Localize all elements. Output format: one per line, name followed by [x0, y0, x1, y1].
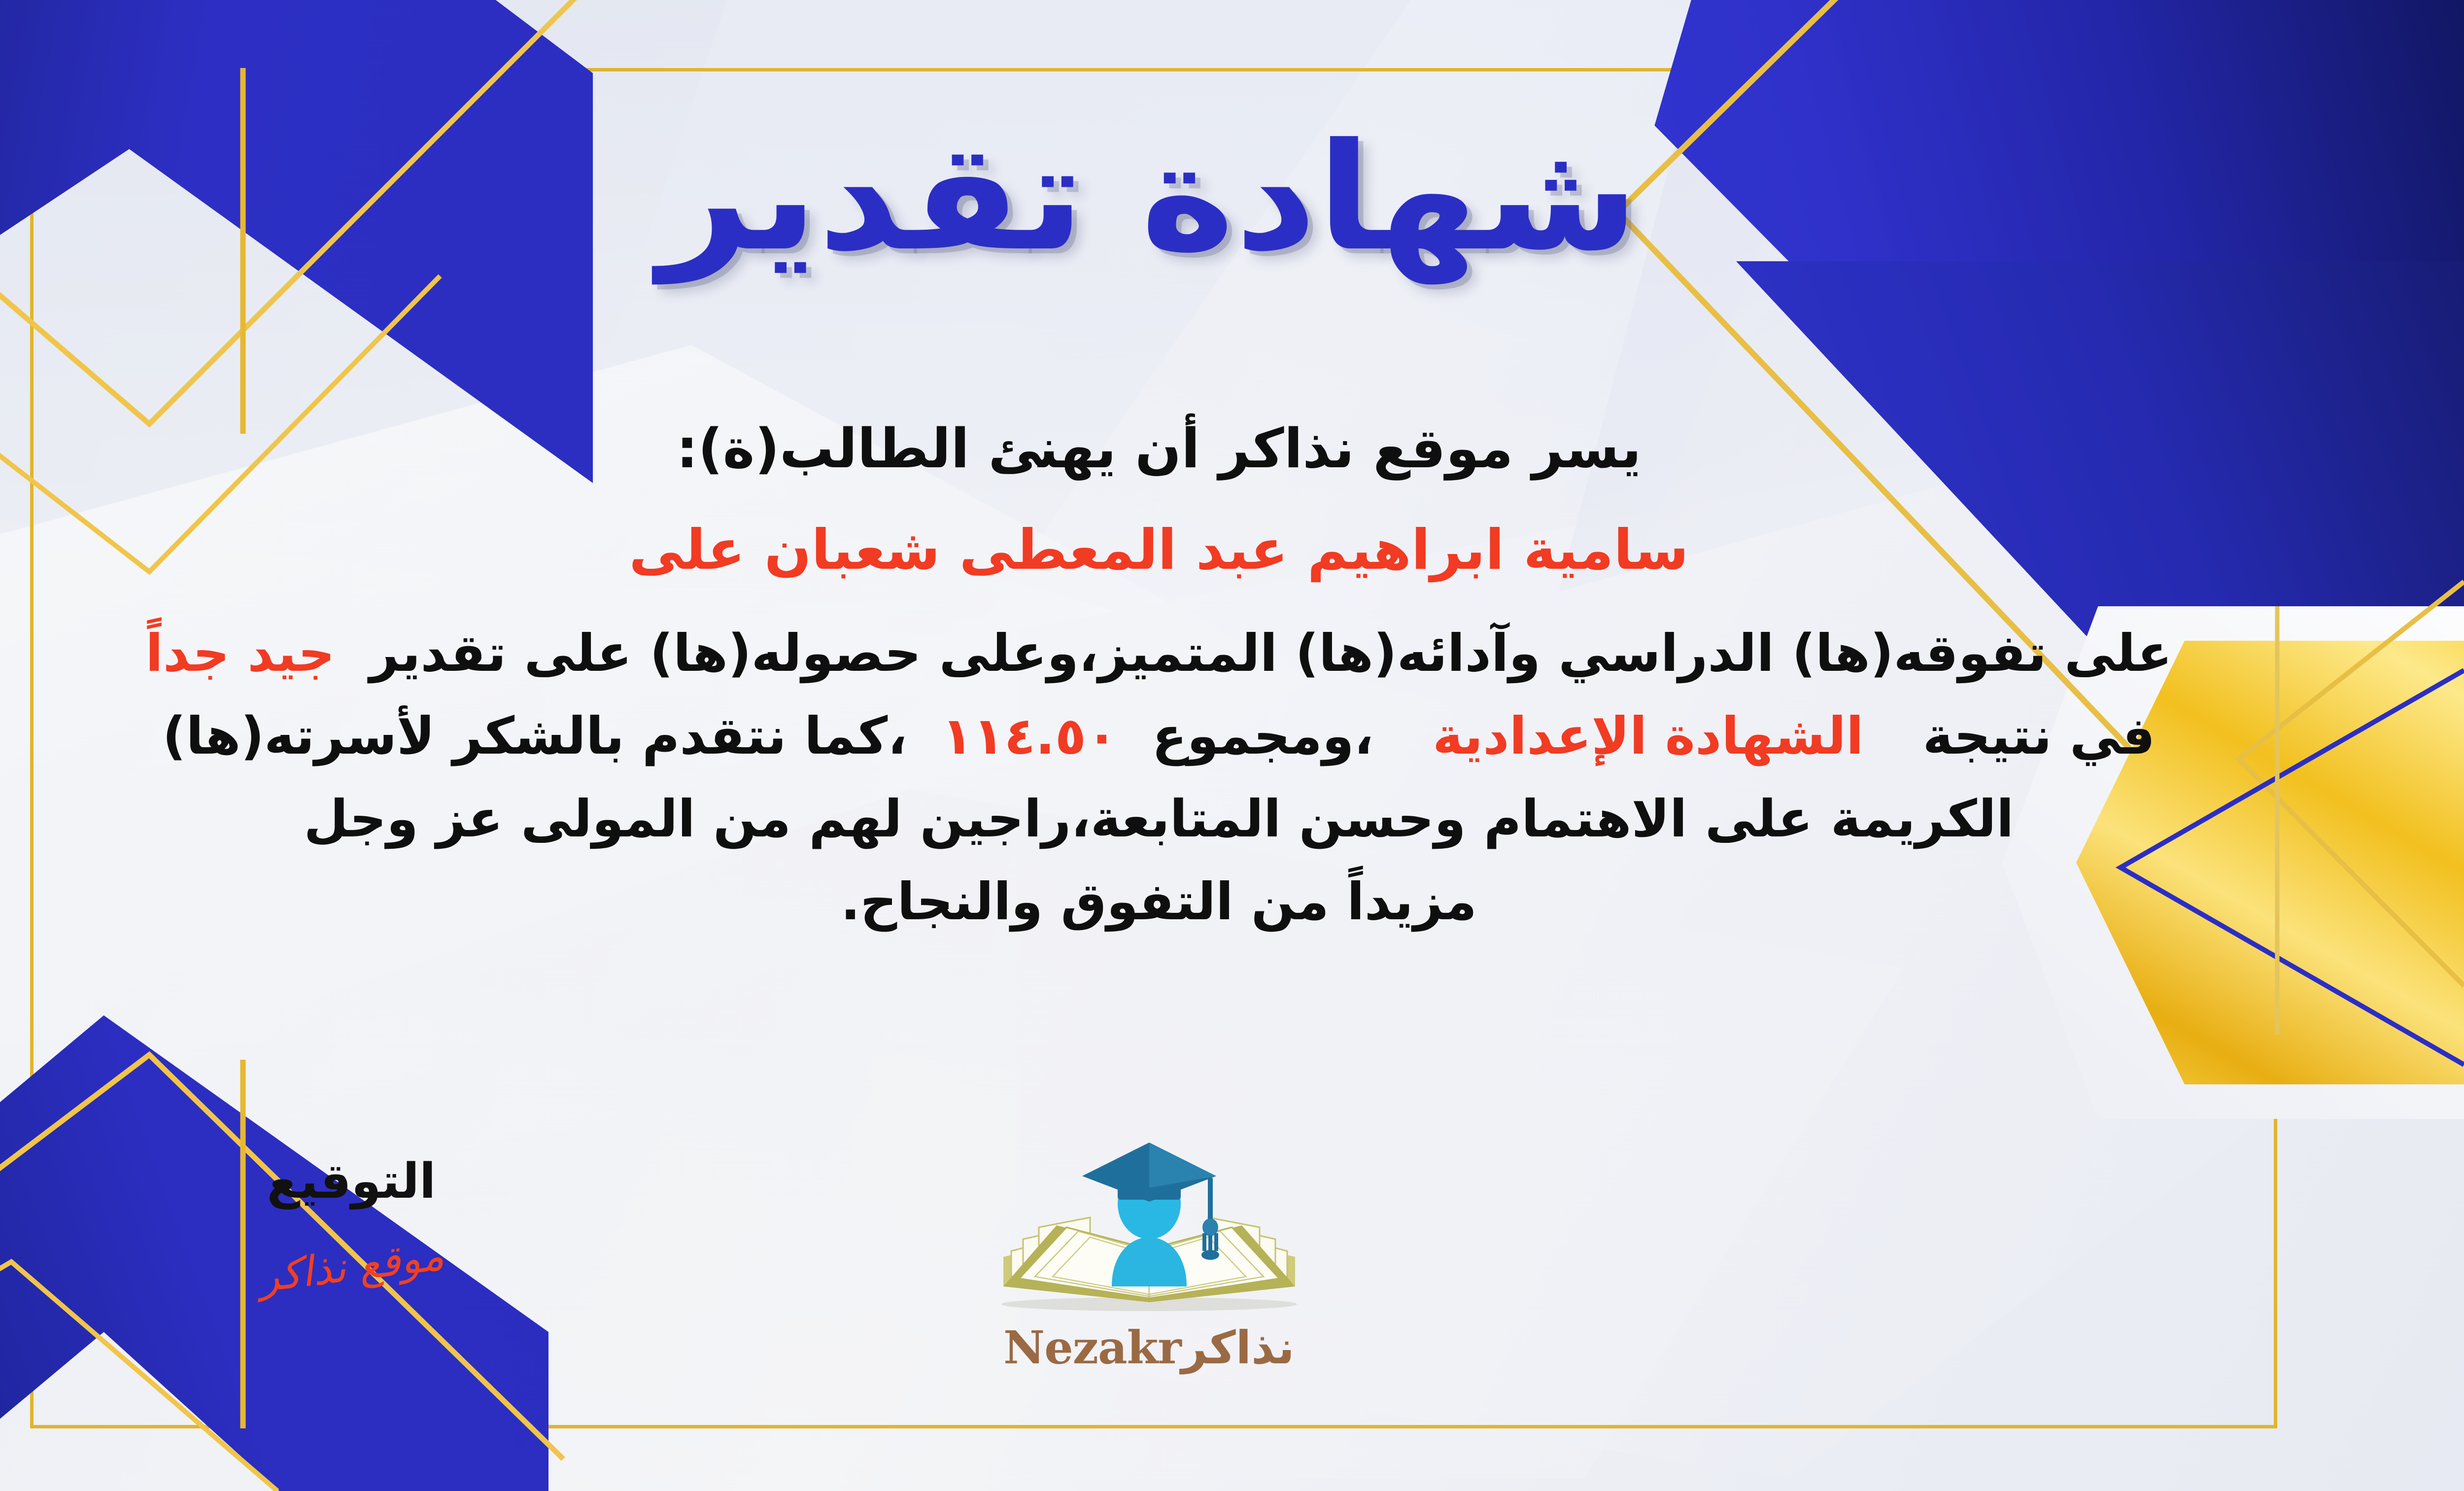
exam-prefix: في نتيجة	[1923, 706, 2156, 766]
achievement-text: على تفوقه(ها) الدراسي وآدائه(ها) المتميز…	[370, 623, 2172, 683]
grade-value: جيد جداً	[145, 623, 335, 683]
gold-accent-line	[2239, 582, 2464, 986]
logo-latin-text: Nezakr	[1003, 1321, 1181, 1374]
logo-wordmark: نذاكرNezakr	[962, 1321, 1336, 1374]
certificate-body: يسر موقع نذاكر أن يهنئ الطالب(ة): سامية …	[66, 409, 2252, 947]
student-name: سامية ابراهيم عبد المعطى شعبان على	[66, 510, 2252, 591]
signature-area: التوقيع موقع نذاكر	[179, 1153, 524, 1290]
closing-line: مزيداً من التفوق والنجاح.	[66, 865, 2252, 939]
thanks-text: ،كما نتقدم بالشكر لأسرته(ها)	[163, 706, 907, 766]
achievement-line: على تفوقه(ها) الدراسي وآدائه(ها) المتميز…	[66, 616, 2252, 691]
exam-name: الشهادة الإعدادية	[1433, 706, 1864, 766]
graduate-book-logo-icon	[962, 1129, 1336, 1326]
certificate-footer: التوقيع موقع نذاكر	[0, 1114, 2464, 1429]
logo-arabic-text: نذاكر	[1181, 1321, 1295, 1374]
exam-result-line: في نتيجةالشهادة الإعدادية،ومجموع١١٤.٥٠،ك…	[66, 699, 2252, 774]
brand-logo: نذاكرNezakr	[962, 1129, 1336, 1374]
total-score: ١١٤.٥٠	[942, 706, 1118, 766]
signature-label: التوقيع	[179, 1153, 524, 1210]
total-label: ،ومجموع	[1152, 706, 1373, 766]
page-title: شهادة تقدير	[659, 111, 1640, 283]
certificate-page: شهادة تقدير يسر موقع نذاكر أن يهنئ الطال…	[0, 0, 2464, 1491]
signature-script: موقع نذاكر	[256, 1231, 446, 1301]
certificate-title-area: شهادة تقدير	[0, 59, 2464, 335]
family-thanks-line: الكريمة على الاهتمام وحسن المتابعة،راجين…	[66, 782, 2252, 857]
intro-line: يسر موقع نذاكر أن يهنئ الطالب(ة):	[66, 409, 2252, 488]
